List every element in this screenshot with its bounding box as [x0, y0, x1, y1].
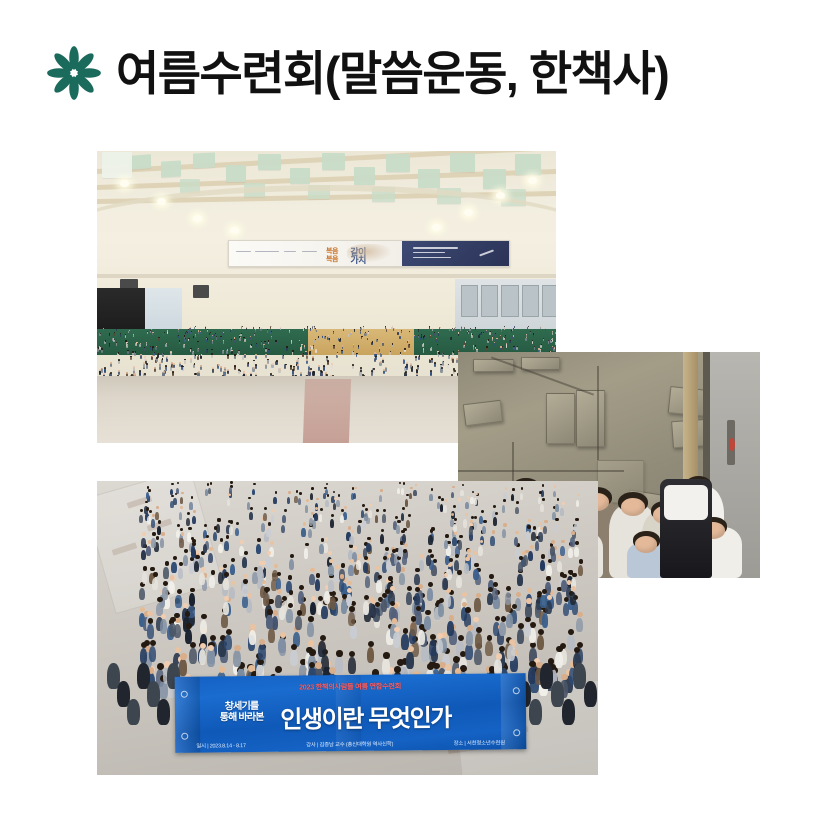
banner-speaker: 강사 | 김종남 교수 (총신대학원 역사신학) — [306, 739, 393, 748]
flower-asterisk-icon — [46, 45, 102, 101]
photo-outdoor-group: 2023 한책의사람들 여름 연합수련회 창세기를 통해 바라본 인생이란 무엇… — [97, 481, 598, 775]
slide-canvas: 여름수련회(말씀운동, 한책사) — [0, 0, 835, 835]
page-title: 여름수련회(말씀운동, 한책사) — [116, 50, 668, 97]
banner-place: 장소 | 서천청소년수련원 — [453, 738, 504, 747]
banner-subject-main: 인생이란 무엇인가 — [280, 698, 515, 735]
banner-details: 일시 | 2023.8.14 - 8.17 강사 | 김종남 교수 (총신대학원… — [196, 738, 505, 749]
ceiling-light — [157, 198, 166, 205]
stage-banner: 복음 같이 복음 가치 — [228, 240, 510, 267]
ceiling-light — [432, 224, 441, 231]
wall-trim — [97, 274, 556, 278]
banner-subject-small-l2: 통해 바라본 — [219, 712, 263, 723]
speaker-box — [193, 285, 209, 298]
ceiling-light — [230, 227, 239, 234]
banner-headline: 2023 한책의사람들 여름 연합수련회 — [216, 681, 483, 694]
event-banner: 2023 한책의사람들 여름 연합수련회 창세기를 통해 바라본 인생이란 무엇… — [174, 673, 525, 753]
baby-stroller — [660, 479, 711, 578]
banner-subject-small-l1: 창세기를 — [224, 701, 258, 712]
auditorium-right-wall — [455, 279, 556, 329]
center-aisle-carpet — [302, 379, 350, 443]
banner-date: 일시 | 2023.8.14 - 8.17 — [196, 741, 245, 750]
banner-subject-small: 창세기를 통해 바라본 — [199, 702, 283, 724]
slide-title-row: 여름수련회(말씀운동, 한책사) — [46, 38, 668, 108]
